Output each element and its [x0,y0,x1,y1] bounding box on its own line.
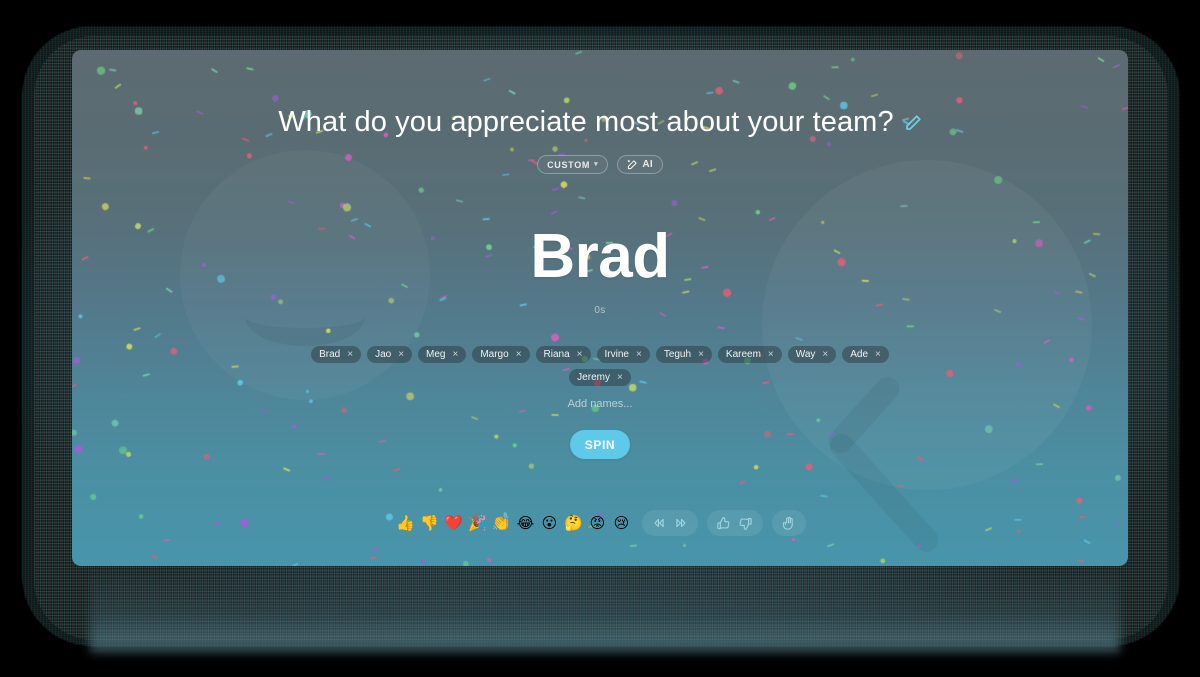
name-chip-label: Jao [375,350,391,360]
open-mouth-emoji[interactable]: 😮 [539,512,561,534]
remove-name-icon[interactable]: × [617,373,623,383]
name-chip-label: Teguh [664,350,691,360]
spinner-app-card: What do you appreciate most about your t… [72,50,1128,566]
name-chip[interactable]: Jeremy× [569,369,631,386]
name-chip-label: Riana [544,350,570,360]
pencil-icon[interactable] [904,114,922,132]
name-chip-label: Way [796,350,816,360]
name-chip-label: Irvine [605,350,629,360]
rewind-icon[interactable] [649,513,669,533]
mode-selector-row: CUSTOM ▾ AI [537,155,663,174]
name-chip-label: Meg [426,350,445,360]
chevron-down-icon: ▾ [594,160,598,168]
name-chip-label: Brad [319,350,340,360]
card-content: What do you appreciate most about your t… [72,50,1128,566]
remove-name-icon[interactable]: × [516,350,522,360]
name-chip[interactable]: Irvine× [597,346,650,363]
thumbs-down-outline-icon[interactable] [736,513,756,533]
custom-mode-button[interactable]: CUSTOM ▾ [537,155,608,174]
playback-group [642,510,698,536]
remove-name-icon[interactable]: × [347,350,353,360]
elapsed-timer: 0s [594,305,605,316]
remove-name-icon[interactable]: × [452,350,458,360]
remove-name-icon[interactable]: × [398,350,404,360]
name-chip[interactable]: Way× [788,346,836,363]
name-chip-label: Kareem [726,350,761,360]
name-chip-list: Brad×Jao×Meg×Margo×Riana×Irvine×Teguh×Ka… [280,346,920,386]
remove-name-icon[interactable]: × [822,350,828,360]
remove-name-icon[interactable]: × [636,350,642,360]
fast-forward-icon[interactable] [671,513,691,533]
remove-name-icon[interactable]: × [577,350,583,360]
angry-face-emoji[interactable]: 😡 [587,512,609,534]
thumbs-down-emoji[interactable]: 👎 [419,512,441,534]
screenshot-stage: What do you appreciate most about your t… [0,0,1200,677]
emoji-reaction-bar: 👍👎❤️🎉👏😂😮🤔😡😢 [395,512,633,534]
raise-hand-group [772,510,806,536]
add-names-input[interactable] [500,398,700,410]
name-chip[interactable]: Riana× [536,346,591,363]
clapping-hands-emoji[interactable]: 👏 [491,512,513,534]
thinking-face-emoji[interactable]: 🤔 [563,512,585,534]
name-chip[interactable]: Jao× [367,346,412,363]
page-title: What do you appreciate most about your t… [278,106,893,139]
remove-name-icon[interactable]: × [698,350,704,360]
name-chip[interactable]: Margo× [472,346,529,363]
heart-emoji[interactable]: ❤️ [443,512,465,534]
crying-face-emoji[interactable]: 😢 [611,512,633,534]
ai-mode-label: AI [642,159,653,170]
joy-emoji[interactable]: 😂 [515,512,537,534]
name-chip[interactable]: Meg× [418,346,466,363]
vote-group [707,510,763,536]
reaction-toolbar: 👍👎❤️🎉👏😂😮🤔😡😢 [72,510,1128,536]
prompt-title-row: What do you appreciate most about your t… [278,106,921,139]
magic-wand-icon [627,159,638,170]
party-popper-emoji[interactable]: 🎉 [467,512,489,534]
thumbs-up-outline-icon[interactable] [714,513,734,533]
name-chip[interactable]: Kareem× [718,346,782,363]
name-chip-label: Ade [850,350,868,360]
ai-mode-button[interactable]: AI [617,155,663,174]
raised-hand-icon[interactable] [779,513,799,533]
name-chip[interactable]: Teguh× [656,346,712,363]
spin-button[interactable]: SPIN [570,430,630,459]
name-chip-label: Jeremy [577,373,610,383]
name-chip[interactable]: Ade× [842,346,889,363]
thumbs-up-emoji[interactable]: 👍 [395,512,417,534]
remove-name-icon[interactable]: × [768,350,774,360]
winner-name: Brad [530,226,669,288]
card-reflection-stripes [90,566,1120,652]
name-chip-label: Margo [480,350,508,360]
remove-name-icon[interactable]: × [875,350,881,360]
custom-mode-label: CUSTOM [547,160,590,170]
name-chip[interactable]: Brad× [311,346,361,363]
